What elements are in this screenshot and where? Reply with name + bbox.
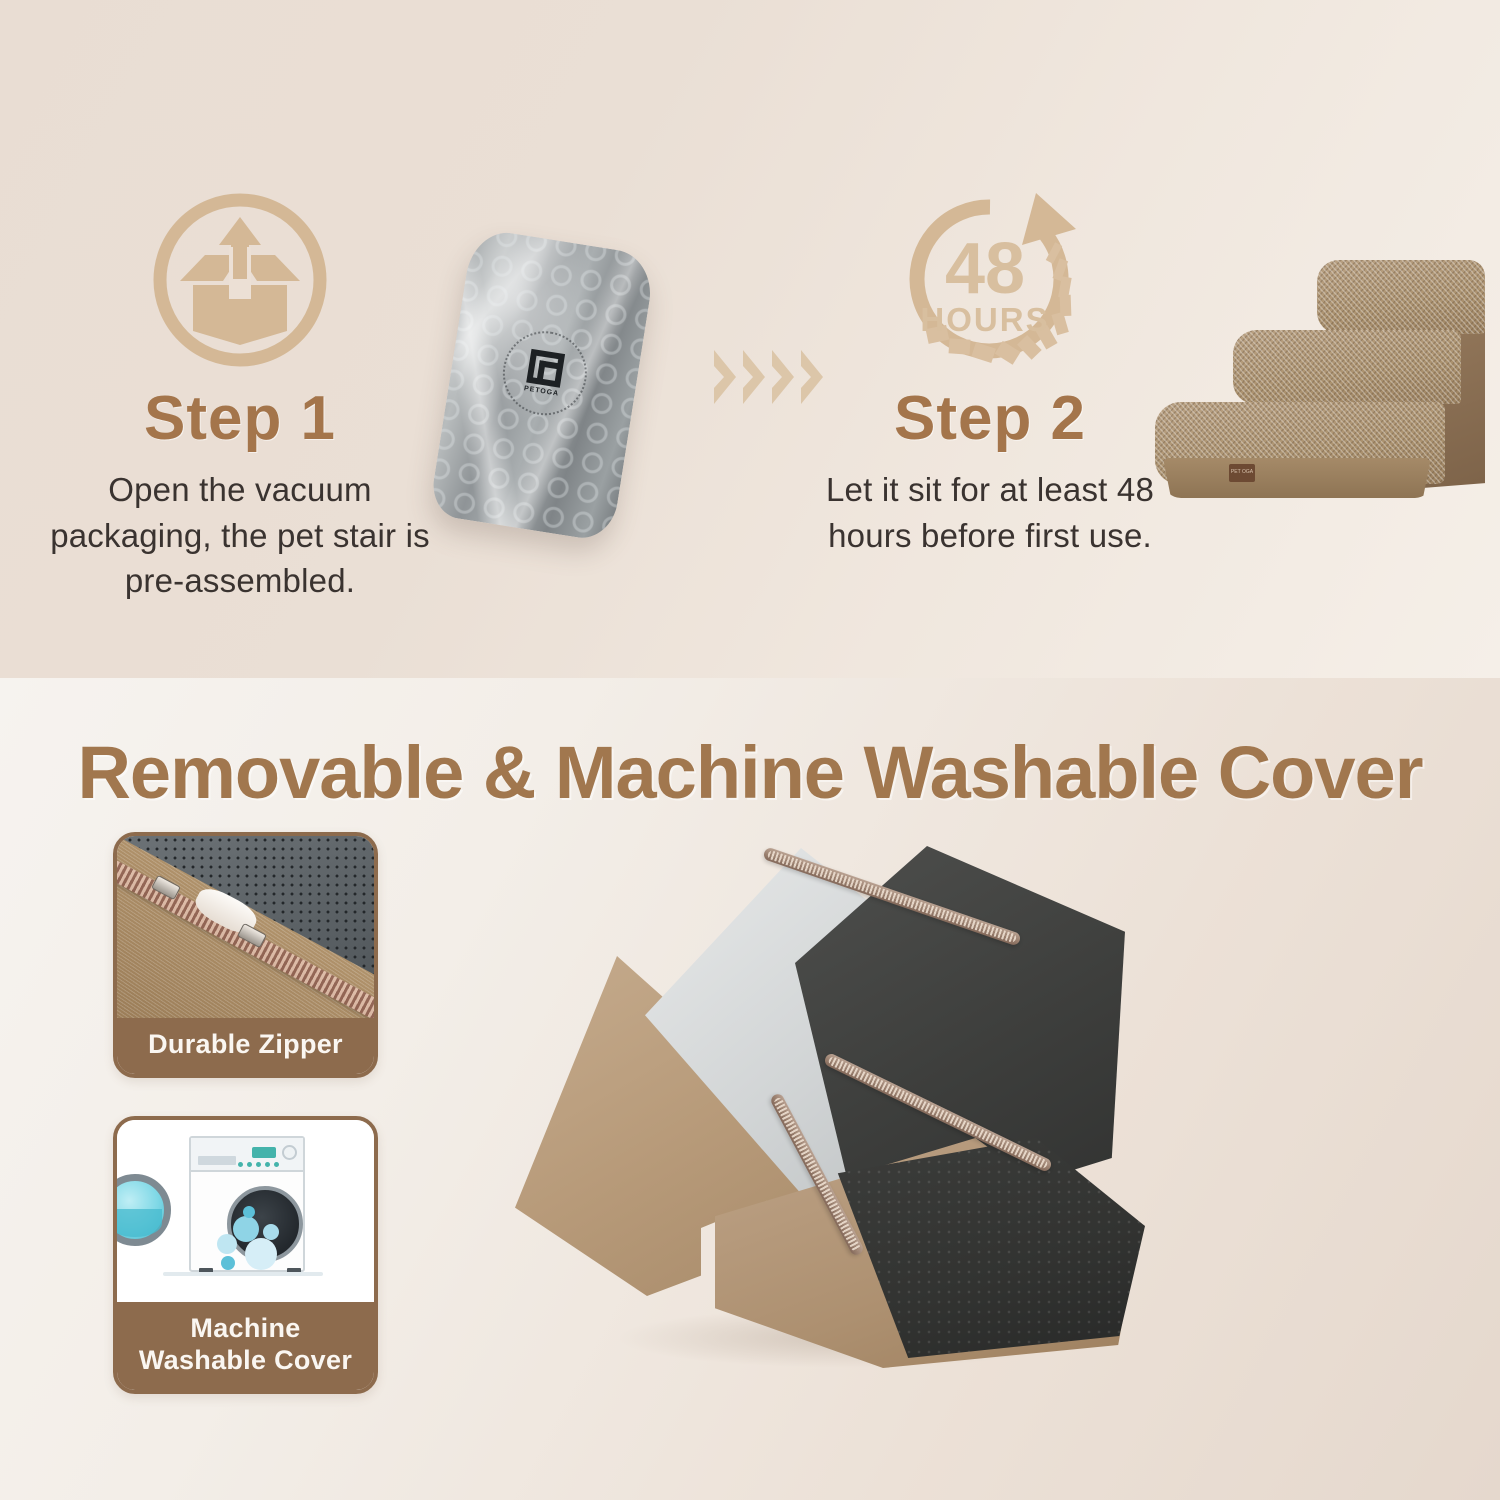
roll-body: PETOGA: [428, 227, 656, 542]
section-heading: Removable & Machine Washable Cover: [0, 730, 1500, 815]
washer-button-dot: [274, 1162, 279, 1167]
zipper-closeup-photo: [117, 836, 374, 1018]
stair-front-face: [1163, 458, 1431, 498]
48-hours-label: HOURS: [920, 301, 1049, 338]
bubble-icon: [263, 1224, 279, 1240]
step-1-description: Open the vacuum packaging, the pet stair…: [30, 467, 450, 604]
bubble-icon: [245, 1238, 277, 1270]
washable-cover-section: Removable & Machine Washable Cover Durab…: [0, 678, 1500, 1500]
washing-machine-scene: [117, 1120, 374, 1302]
feature-badge-zipper-label: Durable Zipper: [117, 1018, 374, 1074]
expanded-pet-stair-photo: PET OGA: [1155, 252, 1485, 510]
step-1-block: Step 1 Open the vacuum packaging, the pe…: [30, 180, 450, 604]
stair-tread-top: [1317, 260, 1485, 334]
step-1-title: Step 1: [30, 386, 450, 451]
step-2-title: Step 2: [780, 386, 1200, 451]
washer-floor-line: [163, 1272, 323, 1276]
feature-badge-washable: MachineWashable Cover: [113, 1116, 378, 1394]
washer-dial-icon: [282, 1145, 297, 1160]
washer-button-dot: [247, 1162, 252, 1167]
feature-badge-column: Durable Zipper: [113, 832, 378, 1394]
step-1-icon-wrap: [30, 180, 450, 380]
chevron-right-icon: [741, 348, 767, 406]
48-hours-number: 48: [945, 229, 1025, 309]
feature-badge-zipper: Durable Zipper: [113, 832, 378, 1078]
step-2-icon-wrap: 48 HOURS: [780, 180, 1200, 380]
bubble-icon: [243, 1206, 255, 1218]
product-brand-tag: PET OGA: [1229, 464, 1255, 482]
washer-button-dot: [238, 1162, 243, 1167]
48-hours-rotation-icon: 48 HOURS: [890, 185, 1090, 375]
brand-logo-icon: [526, 349, 565, 388]
pet-stair-with-cover-peeled-back: [495, 838, 1195, 1398]
feature-badge-washable-label: MachineWashable Cover: [117, 1302, 374, 1390]
step-2-description: Let it sit for at least 48 hours before …: [780, 467, 1200, 558]
stair-tread-middle: [1233, 330, 1461, 404]
washer-button-dot: [256, 1162, 261, 1167]
step-2-block: 48 HOURS Step 2 Let it sit for at least …: [780, 180, 1200, 558]
washer-door-icon: [117, 1174, 171, 1246]
open-box-arrow-icon: [145, 185, 335, 375]
bubble-icon: [221, 1256, 235, 1270]
washer-buttons: [238, 1162, 279, 1167]
brand-logo-text: PETOGA: [523, 386, 559, 398]
chevron-right-icon: [712, 348, 738, 406]
detergent-drawer-icon: [198, 1156, 236, 1165]
steps-section: Step 1 Open the vacuum packaging, the pe…: [0, 0, 1500, 678]
bubble-icon: [217, 1234, 237, 1254]
washer-display-icon: [252, 1147, 276, 1158]
washer-button-dot: [265, 1162, 270, 1167]
washing-machine-illustration: [117, 1120, 374, 1302]
vacuum-packed-roll-photo: PETOGA: [428, 227, 656, 542]
